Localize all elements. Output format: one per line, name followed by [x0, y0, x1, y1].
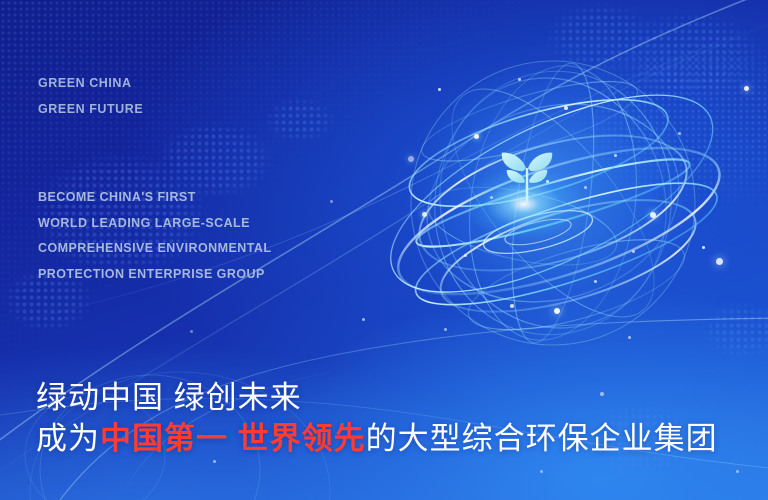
headline-suffix: 的大型综合环保企业集团: [366, 421, 718, 456]
globe-particle: [408, 156, 414, 162]
sprout-seedling-icon: [496, 146, 558, 208]
ambient-particle: [702, 246, 705, 249]
headline-line-2: 成为中国第一 世界领先的大型综合环保企业集团: [36, 418, 718, 460]
globe-particle: [464, 254, 467, 257]
ambient-particle: [213, 460, 216, 463]
ambient-particle: [744, 86, 749, 91]
claims-line-1: BECOME CHINA'S FIRST: [38, 185, 271, 211]
headline-prefix: 成为: [36, 421, 100, 456]
claims-line-3: COMPREHENSIVE ENVIRONMENTAL: [38, 236, 271, 262]
eyebrow-tagline: GREEN CHINA GREEN FUTURE: [38, 70, 143, 122]
ambient-particle: [716, 258, 723, 265]
ambient-particle: [736, 470, 739, 473]
globe-particle: [444, 328, 447, 331]
headline-highlight: 中国第一 世界领先: [100, 421, 366, 456]
ambient-particle: [190, 330, 193, 333]
globe-particle: [628, 336, 631, 339]
globe-particle: [510, 304, 514, 308]
claims-statement: BECOME CHINA'S FIRST WORLD LEADING LARGE…: [38, 185, 271, 287]
ambient-particle: [540, 470, 543, 473]
globe-particle: [490, 196, 493, 199]
claims-line-4: PROTECTION ENTERPRISE GROUP: [38, 262, 271, 288]
headline-block: 绿动中国 绿创未来 成为中国第一 世界领先的大型综合环保企业集团: [36, 378, 718, 460]
ambient-particle: [362, 318, 365, 321]
globe-particle: [632, 250, 635, 253]
globe-particle: [678, 132, 681, 135]
globe-particle: [564, 106, 568, 110]
globe-particle: [584, 186, 587, 189]
eyebrow-line-2: GREEN FUTURE: [38, 96, 143, 122]
headline-line-1: 绿动中国 绿创未来: [36, 378, 718, 418]
globe-particle: [422, 212, 427, 217]
eyebrow-line-1: GREEN CHINA: [38, 70, 143, 96]
globe-particle: [594, 280, 597, 283]
claims-line-2: WORLD LEADING LARGE-SCALE: [38, 211, 271, 237]
globe-particle: [546, 180, 549, 183]
globe-particle: [438, 88, 441, 91]
globe-particle: [474, 134, 479, 139]
wireframe-globe: [378, 36, 726, 366]
globe-particle: [650, 212, 656, 218]
ambient-particle: [330, 200, 333, 203]
globe-particle: [518, 78, 521, 81]
globe-particle: [614, 154, 617, 157]
globe-particle: [554, 308, 560, 314]
hero-banner: GREEN CHINA GREEN FUTURE BECOME CHINA'S …: [0, 0, 768, 500]
